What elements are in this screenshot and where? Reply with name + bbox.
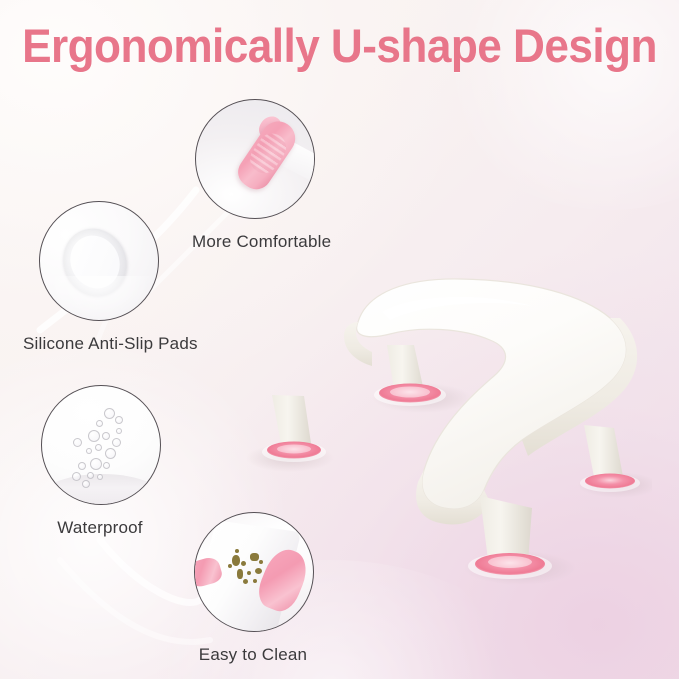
water-droplet-icon bbox=[73, 438, 82, 447]
stain-mark bbox=[259, 560, 263, 564]
stain-mark bbox=[232, 555, 240, 566]
callout-image-silicone-pads bbox=[39, 201, 159, 321]
product-leg-right-rear bbox=[580, 425, 640, 492]
product-infographic: Ergonomically U-shape Design bbox=[0, 0, 679, 679]
surface-shine bbox=[46, 276, 156, 321]
water-droplet-icon bbox=[78, 462, 86, 470]
stain-mark bbox=[228, 564, 232, 568]
water-droplet-icon bbox=[96, 420, 103, 427]
water-droplet-icon bbox=[105, 448, 116, 459]
water-droplet-icon bbox=[95, 444, 102, 451]
stain-mark bbox=[237, 569, 243, 579]
stain-mark bbox=[253, 579, 257, 583]
stain-mark bbox=[250, 553, 259, 561]
page-title: Ergonomically U-shape Design bbox=[20, 18, 658, 74]
callout-image-easy-to-clean bbox=[194, 512, 314, 632]
water-droplet-icon bbox=[87, 472, 94, 479]
callout-label-waterproof: Waterproof bbox=[50, 518, 150, 538]
stain-mark bbox=[241, 561, 246, 566]
water-droplet-icon bbox=[86, 448, 92, 454]
water-droplet-icon bbox=[115, 416, 123, 424]
callout-image-more-comfortable bbox=[195, 99, 315, 219]
stain-mark bbox=[243, 579, 248, 584]
callout-image-waterproof bbox=[41, 385, 161, 505]
callout-label-more-comfortable: More Comfortable bbox=[192, 232, 316, 252]
callout-label-silicone-anti-slip-pads: Silicone Anti-Slip Pads bbox=[23, 334, 173, 354]
water-droplet-icon bbox=[72, 472, 81, 481]
stain-mark bbox=[247, 571, 251, 575]
water-droplet-icon bbox=[90, 458, 102, 470]
water-droplet-icon bbox=[116, 428, 122, 434]
product-leg-front-left bbox=[262, 395, 326, 462]
water-droplet-icon bbox=[102, 432, 110, 440]
water-droplet-icon bbox=[112, 438, 121, 447]
product-leg-rear-center bbox=[374, 345, 446, 406]
water-droplet-icon bbox=[104, 408, 115, 419]
water-droplet-icon bbox=[88, 430, 100, 442]
stain-mark bbox=[235, 549, 239, 553]
water-droplet-icon bbox=[82, 480, 90, 488]
stain-mark bbox=[255, 568, 262, 574]
water-droplet-icon bbox=[103, 462, 110, 469]
callout-label-easy-to-clean: Easy to Clean bbox=[192, 645, 314, 665]
anti-slip-pad bbox=[585, 474, 635, 489]
water-droplet-icon bbox=[97, 474, 103, 480]
